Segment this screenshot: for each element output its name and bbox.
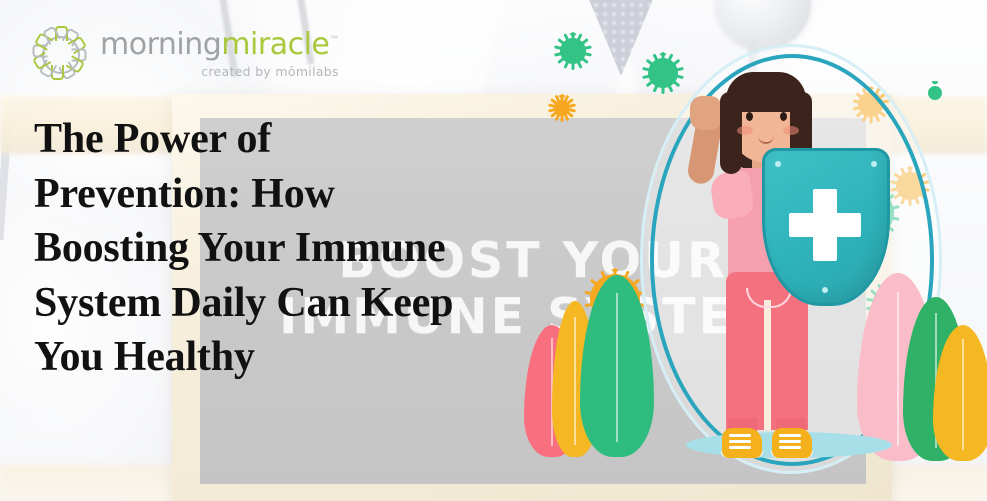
sneaker-left xyxy=(722,428,762,458)
hair-bangs xyxy=(726,72,806,112)
brand-tagline: created by mōmilabs xyxy=(100,64,339,79)
shield-rivet xyxy=(871,161,877,167)
fist xyxy=(690,96,722,130)
sneaker-right xyxy=(772,428,812,458)
woman-character xyxy=(600,0,987,501)
cross-horizontal xyxy=(789,213,861,237)
trademark-symbol: ™ xyxy=(329,35,339,46)
immunity-illustration xyxy=(600,0,987,501)
eye-left xyxy=(746,112,753,121)
brand-name: morningmiracle™ xyxy=(100,30,339,60)
virus-body xyxy=(560,38,586,64)
blush-right xyxy=(783,126,799,135)
banner-image: BOOST YOUR IMMUNE SYSTEM xyxy=(0,0,987,501)
medical-shield-icon xyxy=(762,148,890,306)
headline-line: Boosting Your Immune xyxy=(34,221,634,276)
leg-gap xyxy=(764,300,771,430)
brand-name-part2: miracle xyxy=(221,27,329,62)
shield-rivet xyxy=(822,287,828,293)
tshirt-sleeve xyxy=(709,169,755,220)
brand-wordmark: morningmiracle™ created by mōmilabs xyxy=(100,22,339,79)
shield-rivet xyxy=(775,161,781,167)
eye-right xyxy=(780,112,787,121)
brand-name-part1: morning xyxy=(100,27,221,62)
page-title: The Power of Prevention: How Boosting Yo… xyxy=(34,112,634,385)
virus-icon xyxy=(560,38,586,64)
sun-icon xyxy=(28,22,90,84)
brand-logo[interactable]: morningmiracle™ created by mōmilabs xyxy=(28,22,339,84)
headline-line: The Power of xyxy=(34,112,634,167)
shoe-laces xyxy=(779,434,801,437)
headline-line: Prevention: How xyxy=(34,167,634,222)
headline-line: You Healthy xyxy=(34,330,634,385)
headline-line: System Daily Can Keep xyxy=(34,276,634,331)
blush-left xyxy=(737,126,753,135)
shoe-laces xyxy=(729,434,751,437)
